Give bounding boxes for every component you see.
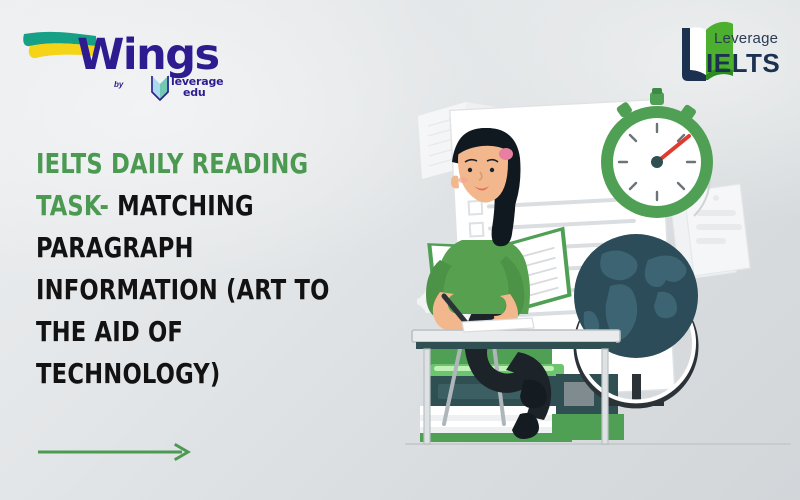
hair-tie: [499, 148, 513, 160]
ielts-logo-line2: IELTS: [706, 48, 780, 79]
leverage-checkmark-icon: [149, 74, 171, 104]
leverage-edu-line2: edu: [183, 87, 223, 98]
hero-illustration: [396, 84, 800, 500]
leverage-edu-text: leverage edu: [171, 76, 223, 98]
leverage-edu-sublogo: leverage edu: [149, 74, 224, 106]
wings-by-label: by: [114, 80, 123, 89]
eye: [490, 168, 494, 172]
stopwatch-icon: [601, 88, 713, 218]
leverage-ielts-logo[interactable]: Leverage IELTS: [676, 18, 782, 84]
read-more-arrow-icon[interactable]: [36, 440, 196, 464]
ielts-logo-line1: Leverage: [714, 30, 778, 47]
wings-wordmark: Wings: [77, 34, 219, 77]
eye: [468, 168, 472, 172]
globe-icon: [574, 234, 698, 406]
blog-banner: Wings by leverage edu Leverage IELTS IEL…: [0, 0, 800, 500]
wings-logo[interactable]: Wings by leverage edu: [22, 14, 212, 104]
student-studying-illustration: [396, 84, 800, 500]
page-title: IELTS DAILY READING TASK- MATCHING PARAG…: [36, 143, 333, 395]
